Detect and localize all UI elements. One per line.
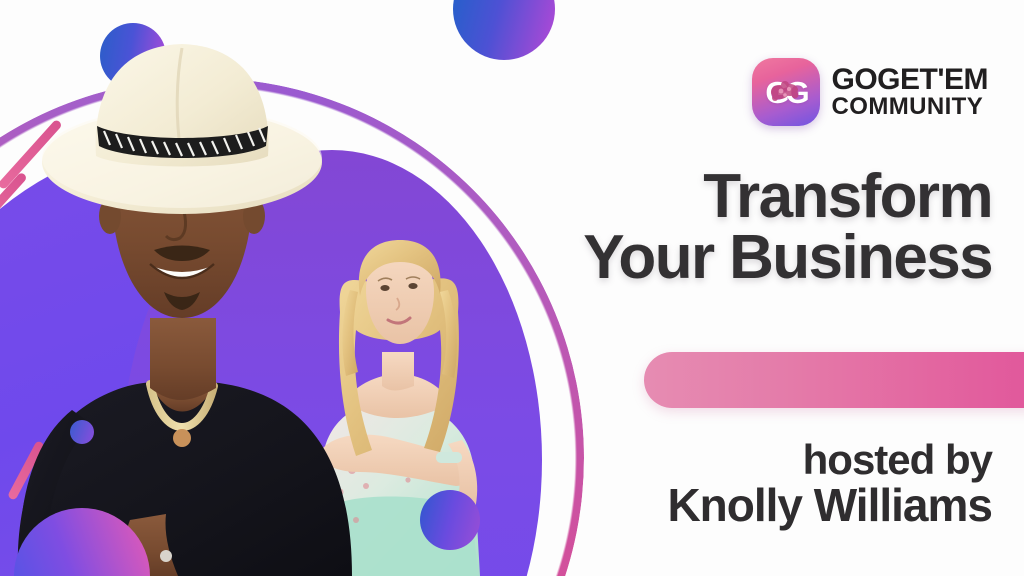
headline-line2: Your Business	[583, 227, 992, 288]
brand-logo[interactable]: GG GOGET'EM COMMUNITY	[752, 58, 988, 126]
speakers-photo-group	[0, 0, 600, 576]
brand-wordmark: GOGET'EM COMMUNITY	[832, 66, 988, 118]
decor-ball-bottom-center	[420, 490, 480, 550]
brand-name-line1: GOGET'EM	[832, 66, 988, 95]
decor-ball-shoulder	[70, 420, 94, 444]
promo-banner: GG GOGET'EM COMMUNITY	[0, 0, 1024, 576]
flower-ornament-icon	[769, 79, 803, 105]
host-credit: hosted by Knolly Williams	[667, 438, 992, 530]
page-title: Transform Your Business	[583, 166, 992, 289]
hosted-by-label: hosted by	[667, 438, 992, 482]
headline-line1: Transform	[703, 162, 992, 231]
accent-divider-bar	[644, 352, 1024, 408]
host-figure	[18, 44, 352, 576]
goget-em-gg-monogram-icon: GG	[752, 58, 820, 126]
host-name: Knolly Williams	[667, 482, 992, 530]
brand-name-line2: COMMUNITY	[832, 95, 988, 118]
